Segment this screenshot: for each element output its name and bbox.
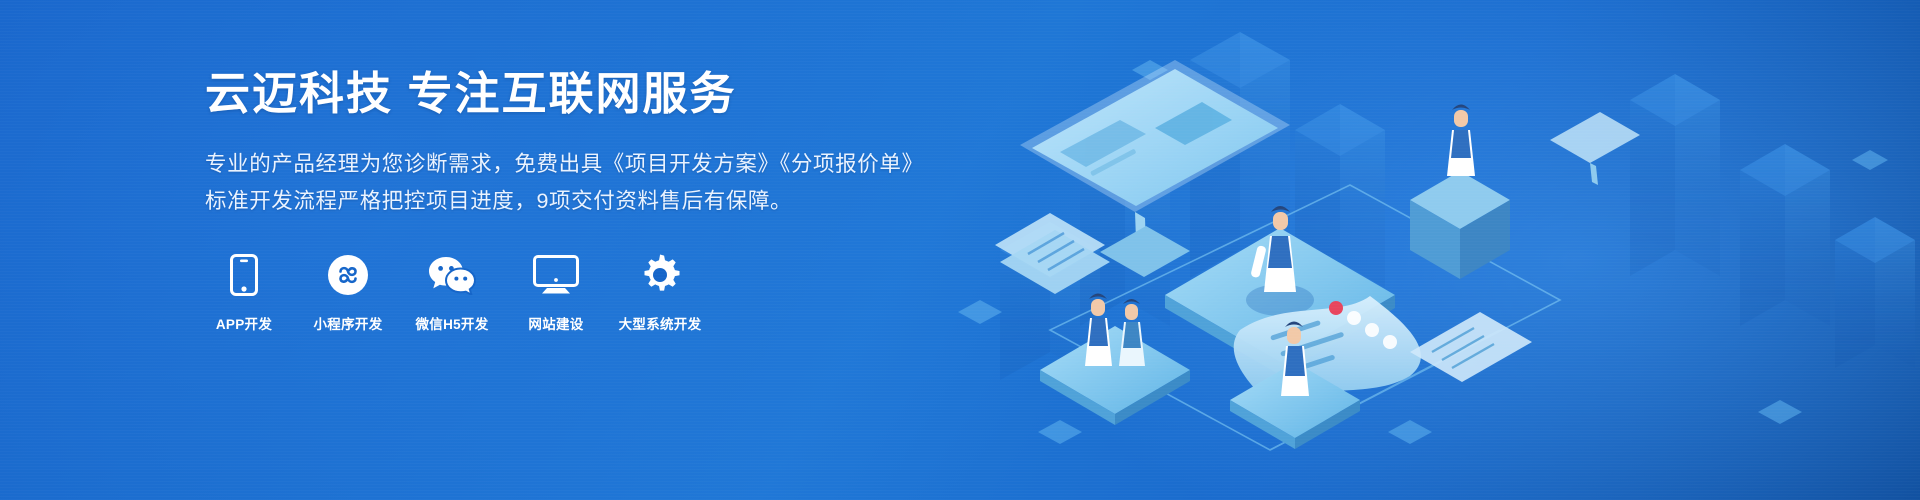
service-item-website[interactable]: 网站建设 [517,252,595,333]
service-label-app: APP开发 [216,313,272,333]
isometric-illustration [940,0,1920,500]
service-label-large-system: 大型系统开发 [619,313,702,333]
banner-content: 云迈科技 专注互联网服务 专业的产品经理为您诊断需求，免费出具《项目开发方案》《… [205,66,965,333]
hero-banner: 云迈科技 专注互联网服务 专业的产品经理为您诊断需求，免费出具《项目开发方案》《… [0,0,1920,500]
service-item-large-system[interactable]: 大型系统开发 [621,252,699,333]
mini-program-icon [327,252,369,298]
service-label-wechat-h5: 微信H5开发 [415,313,488,333]
service-item-app[interactable]: APP开发 [205,252,283,333]
service-list: APP开发 小程序开发 [205,252,965,333]
wechat-bubbles-icon [428,252,476,298]
banner-description: 专业的产品经理为您诊断需求，免费出具《项目开发方案》《分项报价单》 标准开发流程… [205,146,965,220]
service-label-mini-program: 小程序开发 [314,313,383,333]
service-label-website: 网站建设 [528,313,583,333]
description-line-2: 标准开发流程严格把控项目进度，9项交付资料售后有保障。 [205,183,965,220]
service-item-mini-program[interactable]: 小程序开发 [309,252,387,333]
gear-icon [639,252,681,298]
service-item-wechat-h5[interactable]: 微信H5开发 [413,252,491,333]
monitor-icon [533,252,579,298]
mobile-phone-icon [230,252,258,298]
description-line-1: 专业的产品经理为您诊断需求，免费出具《项目开发方案》《分项报价单》 [205,146,965,183]
banner-title: 云迈科技 专注互联网服务 [205,66,965,122]
